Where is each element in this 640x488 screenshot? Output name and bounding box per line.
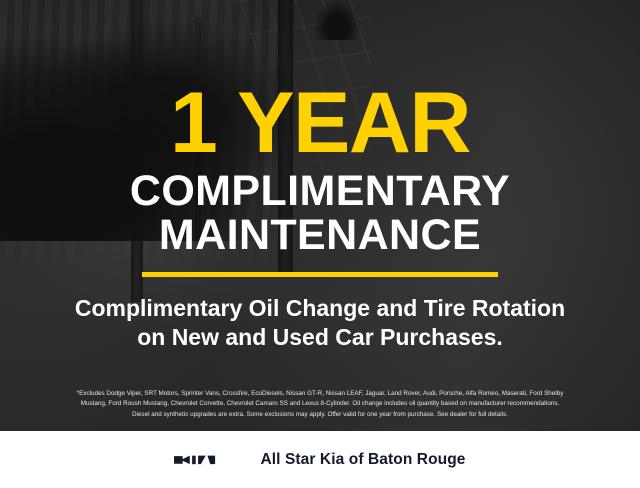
dealer-name-label: All Star Kia of Baton Rouge bbox=[260, 451, 465, 469]
offer-description-line-2: on New and Used Car Purchases. bbox=[75, 323, 565, 352]
offer-description-line-1: Complimentary Oil Change and Tire Rotati… bbox=[75, 294, 565, 323]
offer-description: Complimentary Oil Change and Tire Rotati… bbox=[75, 277, 565, 353]
subheadline-line-2: MAINTENANCE bbox=[130, 213, 510, 257]
disclaimer-line-1: *Excludes Dodge Viper, SRT Motors, Sprin… bbox=[14, 389, 626, 400]
disclaimer-line-3: Diesel and synthetic upgrades are extra.… bbox=[14, 410, 626, 421]
dealer-footer-bar: All Star Kia of Baton Rouge bbox=[0, 431, 640, 488]
headline-one-year: 1 YEAR bbox=[170, 0, 470, 163]
kia-logo bbox=[174, 452, 242, 468]
subheadline-complimentary-maintenance: COMPLIMENTARY MAINTENANCE bbox=[130, 163, 510, 258]
subheadline-line-1: COMPLIMENTARY bbox=[130, 169, 510, 213]
promo-banner: 1 YEAR COMPLIMENTARY MAINTENANCE Complim… bbox=[0, 0, 640, 488]
disclaimer-line-2: Mustang, Ford Roush Mustang, Chevrolet C… bbox=[14, 399, 626, 410]
disclaimer-fine-print: *Excludes Dodge Viper, SRT Motors, Sprin… bbox=[14, 389, 626, 421]
hero-content: 1 YEAR COMPLIMENTARY MAINTENANCE Complim… bbox=[0, 0, 640, 431]
